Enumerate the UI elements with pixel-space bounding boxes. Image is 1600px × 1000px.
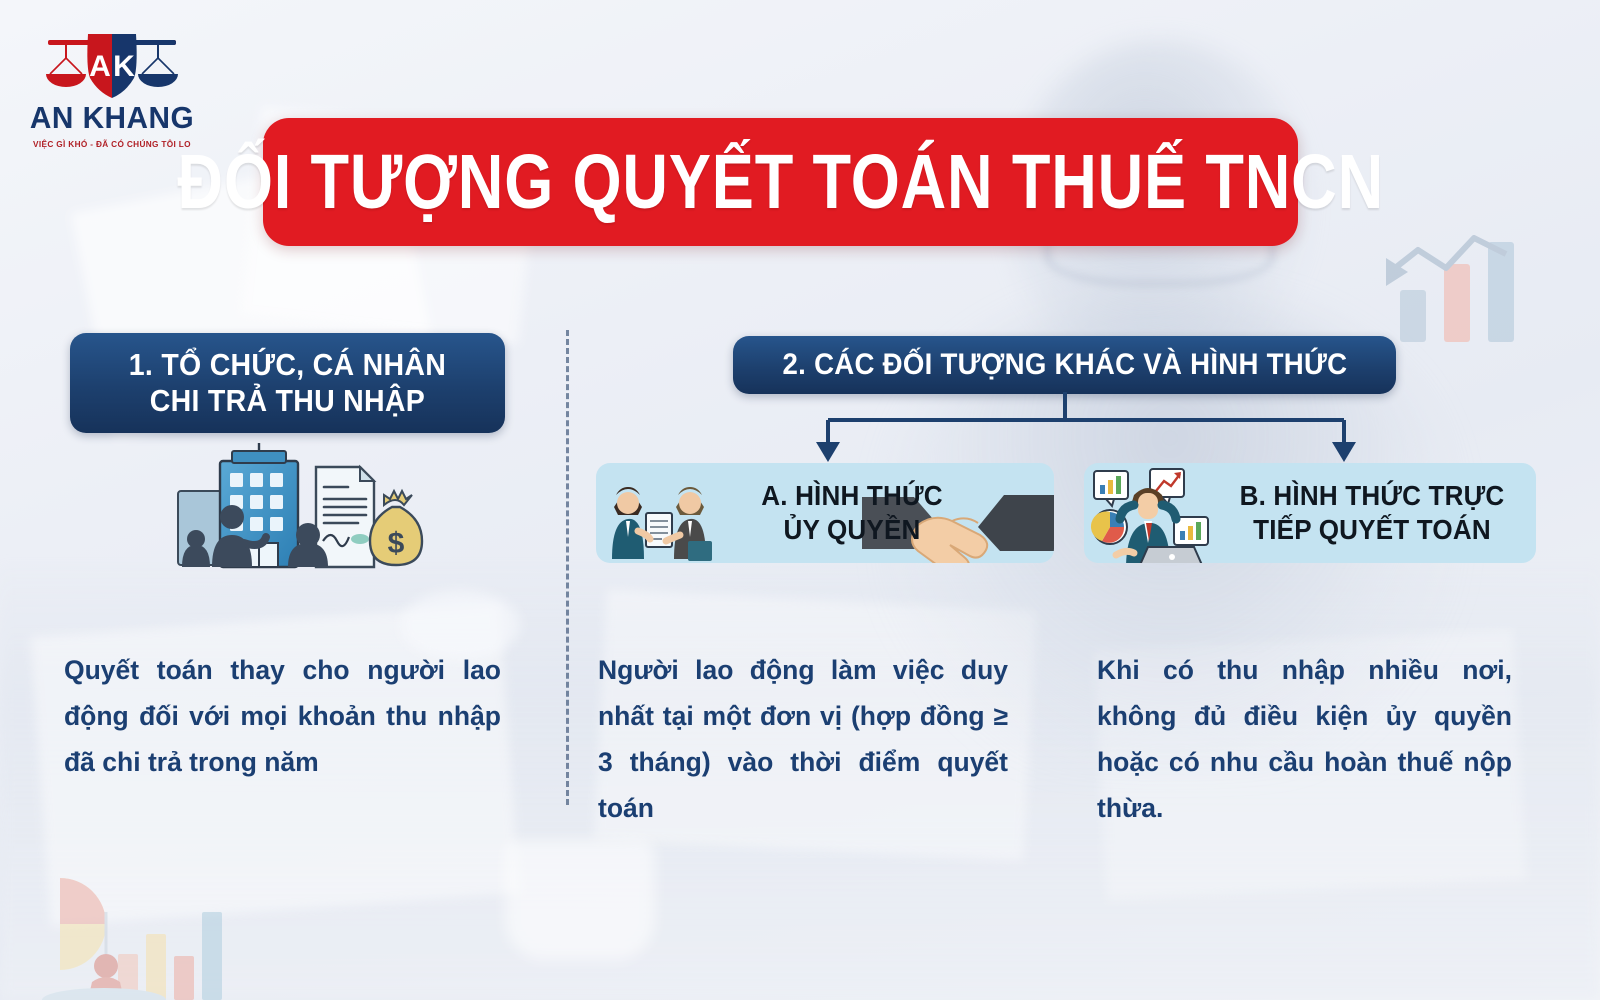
svg-text:$: $	[388, 527, 405, 560]
branch-a-label: A. HÌNH THỨC ỦY QUYỀN	[727, 479, 976, 546]
brand-tagline: VIỆC GÌ KHÓ - ĐÃ CÓ CHÚNG TÔI LO	[25, 139, 200, 149]
branch-b-label-line-1: B. HÌNH THỨC TRỰC	[1240, 480, 1505, 511]
office-building-people-document-moneybag-icon: $	[160, 443, 425, 573]
svg-text:A: A	[89, 50, 111, 83]
handshake-document-exchange-icon	[602, 471, 728, 563]
branch-b-box: B. HÌNH THỨC TRỰC TIẾP QUYẾT TOÁN	[1084, 463, 1536, 563]
svg-text:K: K	[113, 50, 135, 83]
section-2-header: 2. CÁC ĐỐI TƯỢNG KHÁC VÀ HÌNH THỨC	[733, 336, 1396, 394]
businessman-laptop-charts-icon	[1088, 465, 1224, 563]
section-1-header-line-1: 1. TỔ CHỨC, CÁ NHÂN	[129, 347, 446, 382]
vertical-dashed-divider	[566, 330, 569, 805]
brand-logo: A K AN KHANG VIỆC GÌ KHÓ - ĐÃ CÓ CHÚNG T…	[22, 28, 202, 149]
branch-b-label: B. HÌNH THỨC TRỰC TIẾP QUYẾT TOÁN	[1223, 479, 1521, 546]
section-1-header-line-2: CHI TRẢ THU NHẬP	[150, 383, 425, 418]
branch-a-box: A. HÌNH THỨC ỦY QUYỀN	[596, 463, 1054, 563]
scales-of-justice-ak-monogram-icon: A K	[32, 28, 192, 100]
branch-arrow-connector-icon	[760, 392, 1380, 464]
branch-a-label-line-1: A. HÌNH THỨC	[761, 480, 943, 511]
branch-a-body-text: Người lao động làm việc duy nhất tại một…	[598, 648, 1008, 831]
section-1-header-label: 1. TỔ CHỨC, CÁ NHÂN CHI TRẢ THU NHẬP	[129, 347, 446, 419]
section-1-body-text: Quyết toán thay cho người lao động đối v…	[64, 648, 501, 786]
section-1-header: 1. TỔ CHỨC, CÁ NHÂN CHI TRẢ THU NHẬP	[70, 333, 505, 433]
bar-chart-watermark-icon	[1382, 228, 1572, 346]
pie-and-bar-chart-watermark-icon	[0, 850, 280, 1000]
branch-a-label-line-2: ỦY QUYỀN	[783, 514, 920, 545]
background-mug	[505, 840, 655, 960]
section-2-header-label: 2. CÁC ĐỐI TƯỢNG KHÁC VÀ HÌNH THỨC	[782, 348, 1347, 383]
page-title: ĐỐI TƯỢNG QUYẾT TOÁN THUẾ TNCN	[177, 144, 1384, 221]
brand-name: AN KHANG	[26, 102, 199, 133]
infographic-canvas: A K AN KHANG VIỆC GÌ KHÓ - ĐÃ CÓ CHÚNG T…	[0, 0, 1600, 1000]
branch-b-label-line-2: TIẾP QUYẾT TOÁN	[1253, 514, 1491, 545]
title-banner: ĐỐI TƯỢNG QUYẾT TOÁN THUẾ TNCN	[263, 118, 1298, 246]
branch-b-body-text: Khi có thu nhập nhiều nơi, không đủ điều…	[1097, 648, 1512, 831]
